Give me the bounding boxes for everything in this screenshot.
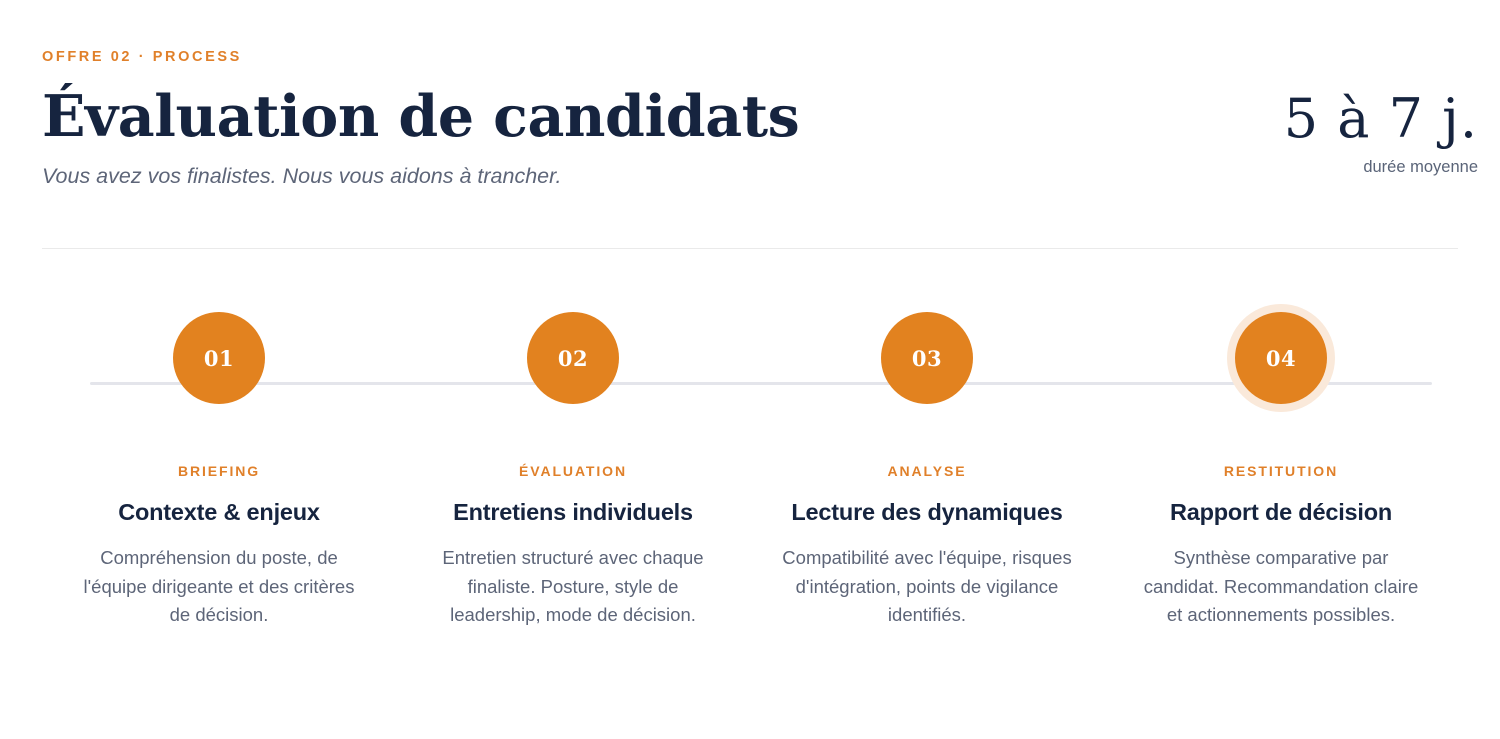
page-title: Évaluation de candidats [42,65,1458,147]
step-desc-01: Compréhension du poste, de l'équipe diri… [73,526,365,630]
step-badge-wrap-04: 04 [1223,300,1339,416]
step-number-02: 02 [558,348,588,369]
step-desc-02: Entretien structuré avec chaque finalist… [427,526,719,630]
step-desc-04: Synthèse comparative par candidat. Recom… [1135,526,1427,630]
step-title-02: Entretiens individuels [453,478,693,526]
timeline-steps: 01 BRIEFING Contexte & enjeux Compréhens… [42,300,1458,630]
timeline-step-03[interactable]: 03 ANALYSE Lecture des dynamiques Compat… [750,300,1104,630]
timeline-step-02[interactable]: 02 ÉVALUATION Entretiens individuels Ent… [396,300,750,630]
step-title-04: Rapport de décision [1170,478,1392,526]
step-badge-wrap-01: 01 [161,300,277,416]
step-title-03: Lecture des dynamiques [791,478,1062,526]
step-badge-02: 02 [527,312,619,404]
step-number-04: 04 [1266,348,1296,369]
step-desc-03: Compatibilité avec l'équipe, risques d'i… [781,526,1073,630]
duration-stat: 5 à 7 j. durée moyenne [1284,92,1478,176]
offer-eyebrow: OFFRE 02 · PROCESS [42,38,1458,65]
step-kicker-02: ÉVALUATION [519,416,627,478]
step-kicker-01: BRIEFING [178,416,260,478]
timeline-step-01[interactable]: 01 BRIEFING Contexte & enjeux Compréhens… [42,300,396,630]
step-badge-wrap-03: 03 [869,300,985,416]
step-title-01: Contexte & enjeux [118,478,320,526]
duration-value: 5 à 7 j. [1284,92,1478,146]
duration-label: durée moyenne [1284,146,1478,176]
step-badge-wrap-02: 02 [515,300,631,416]
timeline-step-04[interactable]: 04 RESTITUTION Rapport de décision Synth… [1104,300,1458,630]
step-kicker-04: RESTITUTION [1224,416,1338,478]
process-timeline: 01 BRIEFING Contexte & enjeux Compréhens… [0,300,1500,720]
step-badge-01: 01 [173,312,265,404]
process-page: OFFRE 02 · PROCESS Évaluation de candida… [0,0,1500,739]
step-kicker-03: ANALYSE [888,416,967,478]
step-number-01: 01 [204,348,234,369]
page-subtitle: Vous avez vos finalistes. Nous vous aido… [42,146,1458,190]
step-badge-04: 04 [1235,312,1327,404]
page-header: OFFRE 02 · PROCESS Évaluation de candida… [42,38,1458,213]
step-badge-03: 03 [881,312,973,404]
step-number-03: 03 [912,348,942,369]
header-divider [42,248,1458,249]
